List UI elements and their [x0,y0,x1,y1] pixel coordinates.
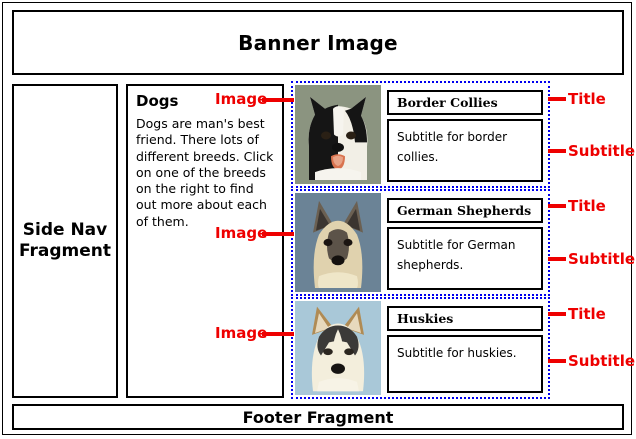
breed-title-box: Huskies [387,306,543,331]
annotation-subtitle-2: Subtitle [568,250,635,268]
breed-title-box: German Shepherds [387,198,543,223]
breed-subtitle-box: Subtitle for border collies. [387,119,543,182]
breed-title: Border Collies [397,95,498,110]
banner-label: Banner Image [238,31,398,55]
annotation-subtitle-label: Subtitle [568,250,635,268]
annotation-subtitle-3: Subtitle [568,352,635,370]
breed-subtitle: Subtitle for border collies. [397,130,507,164]
annotation-leader-title-2 [548,204,566,208]
footer-region: Footer Fragment [12,404,624,430]
breed-row[interactable]: German Shepherds Subtitle for German she… [291,189,550,296]
breed-list-region: Border Collies Subtitle for border colli… [291,81,550,399]
annotation-subtitle-label: Subtitle [568,142,635,160]
breed-subtitle-box: Subtitle for huskies. [387,335,543,393]
annotation-subtitle-label: Subtitle [568,352,635,370]
annotation-title-1: Title [568,90,606,108]
breed-subtitle: Subtitle for huskies. [397,346,517,360]
annotation-subtitle-1: Subtitle [568,142,635,160]
border-collie-photo [295,85,381,184]
annotation-leader-image-1 [262,98,294,102]
wireframe-page: Banner Image Side Nav Fragment Dogs Dogs… [0,0,636,439]
german-shepherd-photo [295,193,381,292]
breed-subtitle: Subtitle for German shepherds. [397,238,515,272]
annotation-title-2: Title [568,197,606,215]
annotation-image-3: Image [215,324,267,342]
annotation-image-label: Image [215,90,267,108]
annotation-image-1: Image [215,90,267,108]
annotation-leader-image-3 [262,332,294,336]
annotation-title-label: Title [568,90,606,108]
content-body-text: Dogs are man's best friend. There lots o… [136,116,274,230]
side-nav-region[interactable]: Side Nav Fragment [12,84,118,398]
breed-row[interactable]: Huskies Subtitle for huskies. [291,297,550,399]
footer-label: Footer Fragment [243,408,394,427]
breed-title-box: Border Collies [387,90,543,115]
annotation-leader-subtitle-2 [548,257,566,261]
annotation-title-label: Title [568,305,606,323]
annotation-leader-title-3 [548,312,566,316]
annotation-leader-image-2 [262,232,294,236]
breed-subtitle-box: Subtitle for German shepherds. [387,227,543,290]
annotation-leader-title-1 [548,97,566,101]
annotation-leader-subtitle-3 [548,359,566,363]
annotation-title-3: Title [568,305,606,323]
side-nav-label: Side Nav Fragment [19,220,111,263]
annotation-image-label: Image [215,224,267,242]
banner-region: Banner Image [12,10,624,75]
breed-title: Huskies [397,311,453,326]
annotation-image-label: Image [215,324,267,342]
annotation-image-2: Image [215,224,267,242]
annotation-leader-subtitle-1 [548,149,566,153]
breed-row[interactable]: Border Collies Subtitle for border colli… [291,81,550,188]
husky-photo [295,301,381,395]
breed-title: German Shepherds [397,203,531,218]
annotation-title-label: Title [568,197,606,215]
